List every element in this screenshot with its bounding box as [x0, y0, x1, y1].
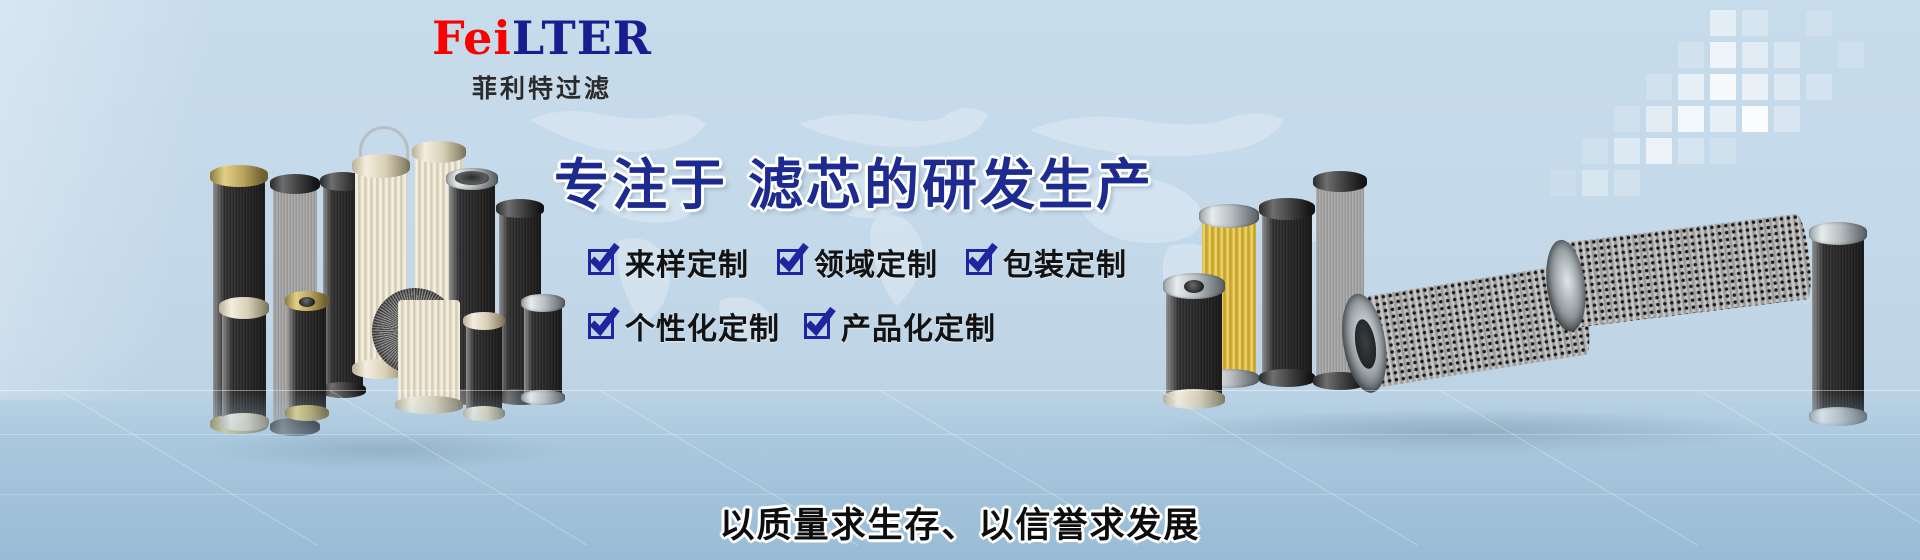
feature-label: 领域定制: [814, 240, 938, 284]
feature-row-1: 来样定制 领域定制 包装定制: [588, 240, 1208, 284]
logo-subtitle: 菲利特过滤: [392, 69, 692, 105]
headline-part2: 滤芯的研发生产: [748, 153, 1154, 217]
checkbox-checked-icon: [966, 249, 992, 275]
logo-word-lter: LTER: [512, 11, 652, 65]
logo-word-fei: Fei: [432, 11, 512, 65]
feature-list: 来样定制 领域定制 包装定制 个性化定制: [588, 240, 1208, 348]
filter-cartridge: [1262, 205, 1312, 381]
checkbox-checked-icon: [777, 249, 803, 275]
page-title: 专注于滤芯的研发生产: [554, 140, 1154, 220]
feature-label: 个性化定制: [625, 304, 780, 348]
filter-cartridge: [524, 300, 562, 400]
logo-wordmark: FeiLTER: [392, 14, 692, 62]
feature-row-2: 个性化定制 产品化定制: [588, 304, 1208, 348]
feature-item: 产品化定制: [804, 304, 996, 348]
feature-label: 来样定制: [625, 240, 749, 284]
checkbox-checked-icon: [588, 249, 614, 275]
filter-cartridge: [1556, 213, 1815, 329]
headline-part1: 专注于: [554, 153, 728, 217]
checkbox-checked-icon: [804, 313, 830, 339]
pixel-mosaic-decoration: [1280, 0, 1920, 230]
promotional-banner: FeiLTER 菲利特过滤 专注于滤芯的研发生产 来样定制 领域定制: [0, 0, 1920, 560]
feature-label: 产品化定制: [841, 304, 996, 348]
company-logo[interactable]: FeiLTER 菲利特过滤: [392, 14, 692, 105]
feature-item: 来样定制: [588, 240, 749, 284]
feature-item: 包装定制: [966, 240, 1127, 284]
checkbox-checked-icon: [588, 313, 614, 339]
feature-item: 个性化定制: [588, 304, 780, 348]
feature-label: 包装定制: [1003, 240, 1127, 284]
feature-item: 领域定制: [777, 240, 938, 284]
slogan-tagline: 以质量求生存、以信誉求发展: [0, 497, 1920, 548]
